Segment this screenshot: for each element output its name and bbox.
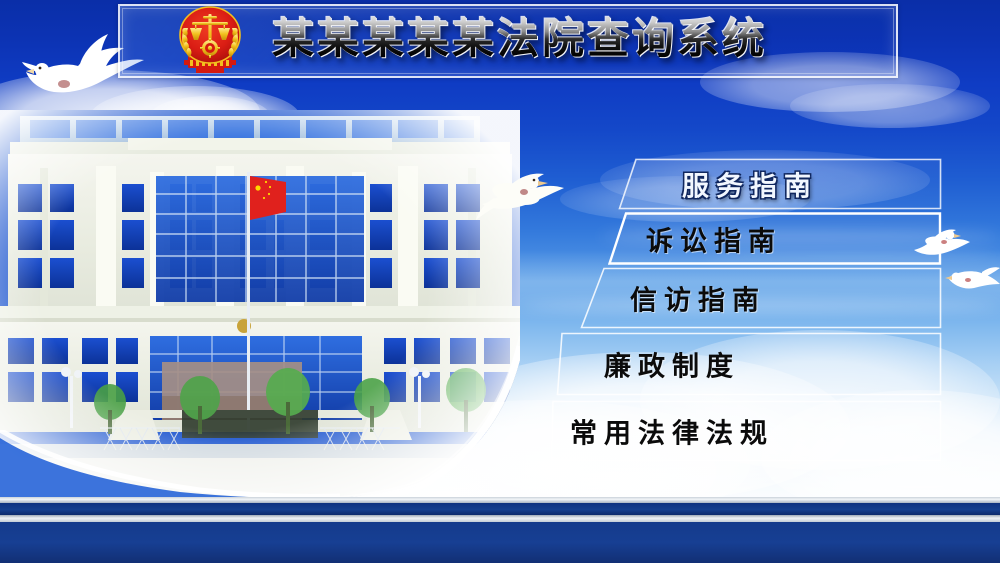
menu-item-label: 廉政制度 (604, 345, 740, 384)
menu-item-label: 服务指南 (682, 165, 818, 204)
footer-blue-bar-top (0, 503, 1000, 515)
menu-item-label: 常用法律法规 (570, 412, 774, 451)
page-title: 某某某某某法院查询系统 (272, 8, 872, 70)
menu-item-service-guide[interactable]: 服务指南 (618, 158, 942, 210)
menu-item-common-laws[interactable]: 常用法律法规 (550, 400, 942, 462)
footer-blue-bar-main (0, 522, 1000, 563)
menu-item-integrity-system[interactable]: 廉政制度 (556, 332, 942, 396)
menu-item-petition-guide[interactable]: 信访指南 (580, 267, 942, 329)
menu-item-label: 信访指南 (630, 279, 766, 318)
main-menu: 服务指南 诉讼指南 信访指南 廉政制度 常用法律法规 (540, 150, 940, 470)
menu-item-litigation-guide[interactable]: 诉讼指南 (608, 212, 942, 265)
court-query-system-screen: 某某某某某法院查询系统 服务指南 诉讼指南 信访指南 廉政制度 (0, 0, 1000, 563)
menu-item-label: 诉讼指南 (646, 219, 782, 258)
courthouse-scene (0, 110, 520, 500)
courthouse-building (0, 110, 520, 500)
footer-silver-line-mid (0, 515, 1000, 522)
china-court-emblem-icon (172, 4, 248, 76)
